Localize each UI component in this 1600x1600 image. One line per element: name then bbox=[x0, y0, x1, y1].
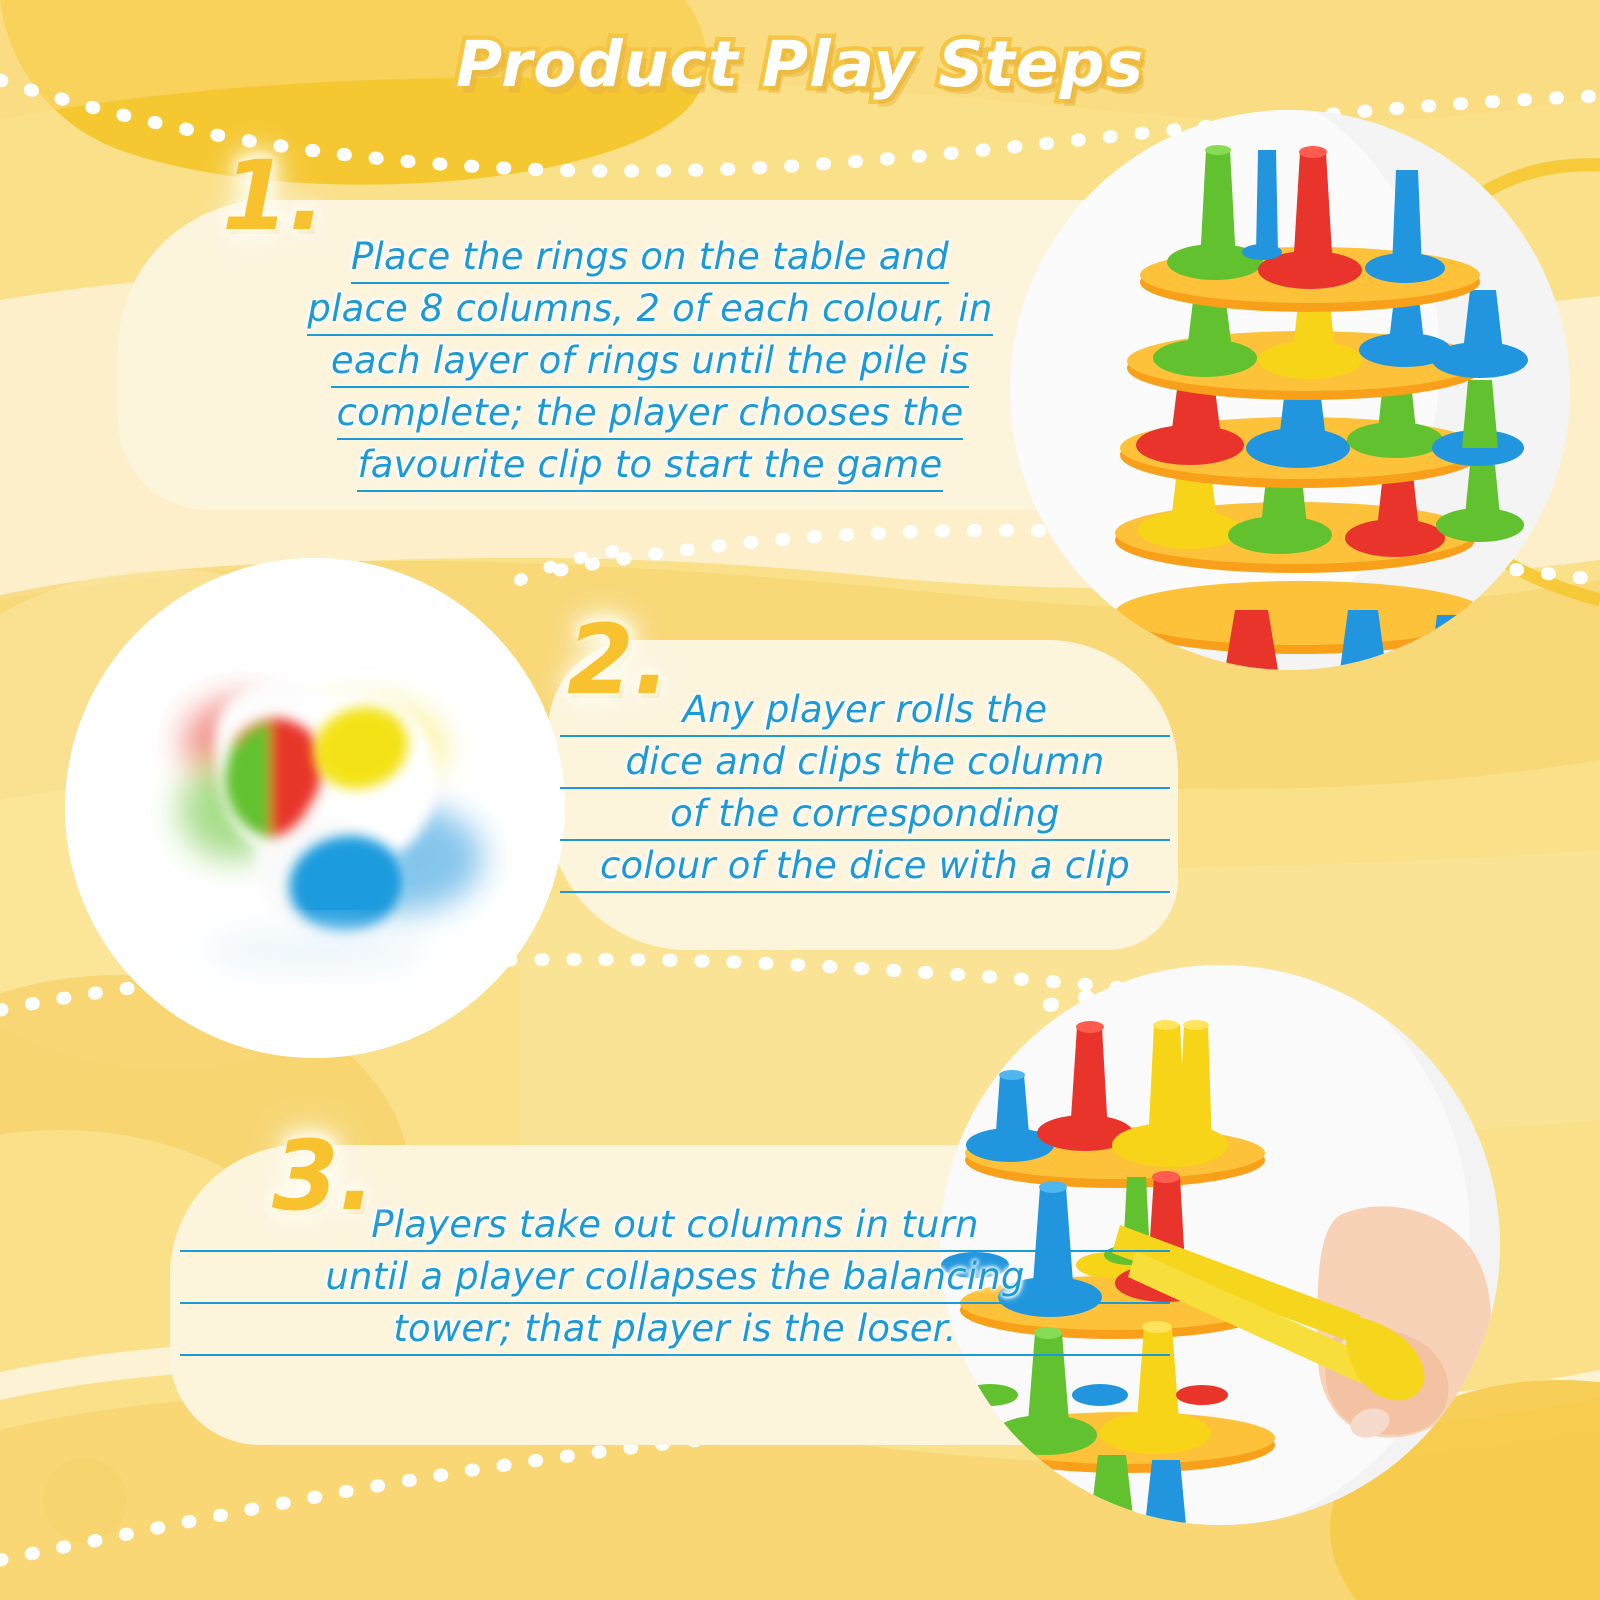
step-2-line-4: colour of the dice with a clip bbox=[560, 841, 1170, 893]
page-title-wrap: Product Play Steps bbox=[0, 28, 1600, 101]
step-1-line-3: each layer of rings until the pile is bbox=[331, 336, 969, 388]
step-number-3: 3. bbox=[272, 1128, 375, 1224]
step-2-line-3: of the corresponding bbox=[560, 789, 1170, 841]
step-1-line-2: place 8 columns, 2 of each colour, in bbox=[307, 284, 992, 336]
step-number-1: 1. bbox=[222, 148, 325, 244]
page-title: Product Play Steps bbox=[456, 28, 1144, 101]
step-text-1: Place the rings on the table and place 8… bbox=[160, 232, 1140, 492]
step-1-line-4: complete; the player chooses the bbox=[337, 388, 964, 440]
step-number-2: 2. bbox=[567, 612, 670, 708]
step-3-line-3: tower; that player is the loser. bbox=[180, 1304, 1170, 1356]
infographic-stage: Product Play Steps 1. 2. 3. Place the ri… bbox=[0, 0, 1600, 1600]
step-2-line-2: dice and clips the column bbox=[560, 737, 1170, 789]
photo-colour-dice bbox=[65, 558, 565, 1058]
dice-illustration bbox=[65, 558, 565, 1058]
step-text-2: Any player rolls the dice and clips the … bbox=[560, 685, 1170, 893]
step-1-line-1: Place the rings on the table and bbox=[351, 232, 949, 284]
step-3-line-2: until a player collapses the balancing bbox=[180, 1252, 1170, 1304]
step-1-line-5: favourite clip to start the game bbox=[357, 440, 942, 492]
